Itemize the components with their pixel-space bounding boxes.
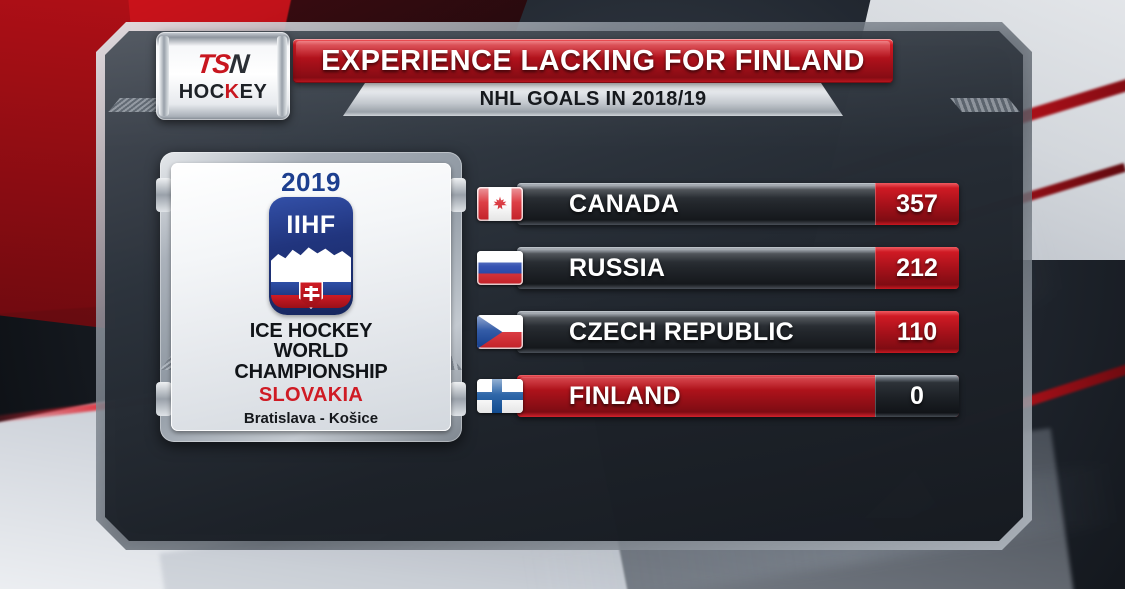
header: TSN HOCKEY EXPERIENCE LACKING FOR FINLAN… [96,22,1032,118]
event-title: ICE HOCKEY WORLD CHAMPIONSHIP [234,321,387,382]
panel-tab-bottom-right [450,382,466,416]
event-title-line-3: CHAMPIONSHIP [234,362,387,382]
event-title-line-1: ICE HOCKEY [234,321,387,341]
event-host-cities: Bratislava - Košice [244,410,378,427]
tsn-hockey-logo-badge: TSN HOCKEY [156,32,290,120]
event-host-country: SLOVAKIA [259,384,363,407]
tsn-hockey-label: HOCKEY [179,82,268,102]
flag-gloss [477,187,523,221]
panel-tab-top-left [156,178,172,212]
goal-value: 357 [875,183,959,225]
stat-rows-list: CANADA 357 RUSSIA 212 CZECH REPUBLIC 110 [477,183,959,417]
table-row: CZECH REPUBLIC 110 [477,311,959,353]
headline-banner: EXPERIENCE LACKING FOR FINLAND [293,39,893,83]
goal-value: 0 [875,375,959,417]
slovakia-coat-of-arms-icon [299,281,323,309]
finland-flag-icon [477,379,523,413]
tsn-logo-text: TSN [196,51,250,78]
flag-gloss [477,315,523,349]
panel-tab-top-right [450,178,466,212]
country-label: CANADA [517,190,679,219]
event-title-line-2: WORLD [234,341,387,361]
country-label: CZECH REPUBLIC [517,318,794,347]
tsn-logo-letters: TSN [196,49,250,79]
russia-flag-icon [477,251,523,285]
stat-bar: CANADA 357 [517,183,959,225]
page-title: EXPERIENCE LACKING FOR FINLAND [321,45,865,78]
canada-flag-icon [477,187,523,221]
table-row: RUSSIA 212 [477,247,959,289]
country-label: FINLAND [517,382,681,411]
double-cross-icon [310,286,313,301]
stat-bar: FINLAND 0 [517,375,959,417]
event-logo-panel: 2019 IIHF ICE HOCKEY WORLD CHAMPIONSHIP … [160,152,462,442]
goal-value: 110 [875,311,959,353]
panel-tab-bottom-left [156,382,172,416]
event-year: 2019 [281,169,341,195]
goal-value: 212 [875,247,959,289]
stat-bar: RUSSIA 212 [517,247,959,289]
iihf-logo-icon: IIHF [269,197,353,315]
iihf-wordmark: IIHF [269,211,353,240]
subtitle-text: NHL GOALS IN 2018/19 [480,88,707,111]
country-label: RUSSIA [517,254,665,283]
flag-gloss [477,379,523,413]
table-row-highlighted: FINLAND 0 [477,375,959,417]
czech-republic-flag-icon [477,315,523,349]
subtitle-banner: NHL GOALS IN 2018/19 [343,83,843,116]
event-logo-card: 2019 IIHF ICE HOCKEY WORLD CHAMPIONSHIP … [171,163,451,431]
table-row: CANADA 357 [477,183,959,225]
stat-bar: CZECH REPUBLIC 110 [517,311,959,353]
flag-gloss [477,251,523,285]
